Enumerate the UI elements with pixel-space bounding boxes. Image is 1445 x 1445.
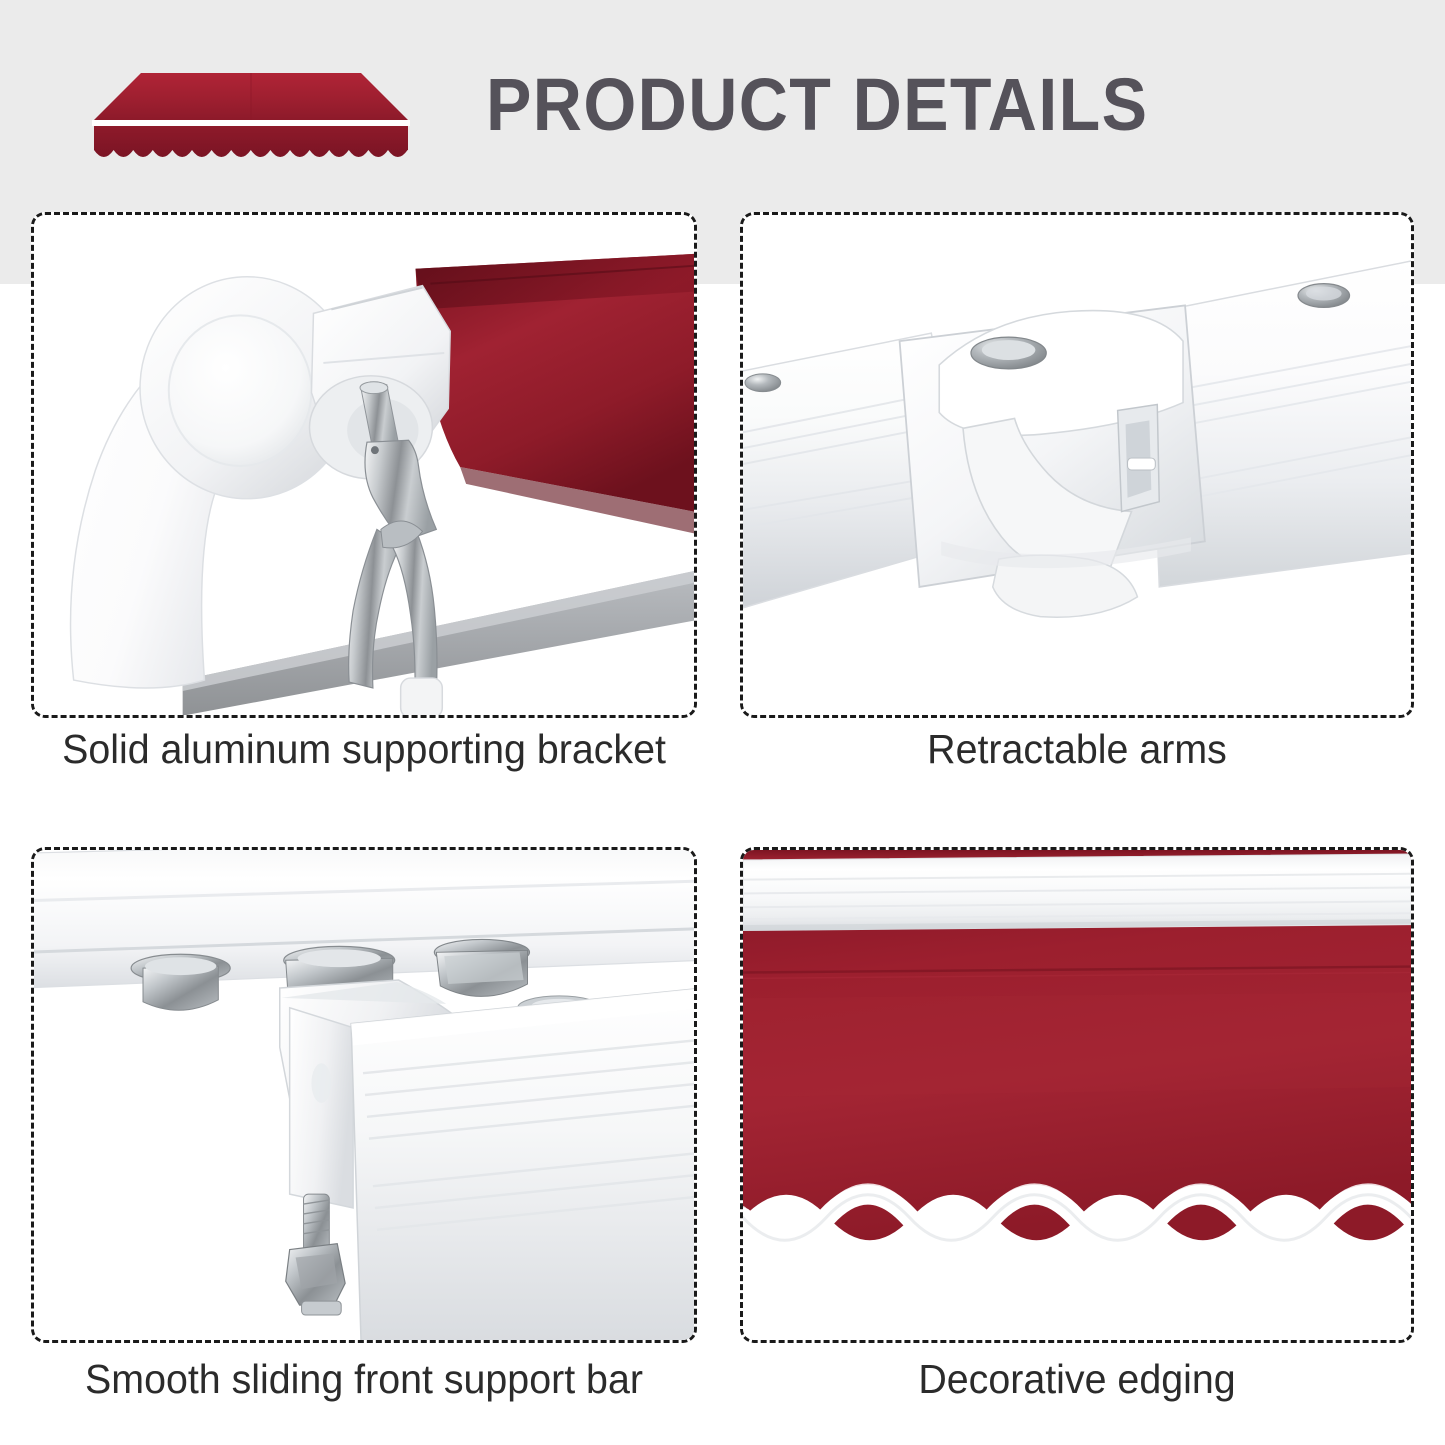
panel-decorative-edging[interactable]	[740, 847, 1414, 1343]
retractable-arms-photo	[743, 215, 1411, 715]
panel-smooth-sliding-front-support-bar[interactable]	[31, 847, 697, 1343]
product-details-page: PRODUCT DETAILS	[0, 0, 1445, 1445]
bracket-photo	[34, 215, 694, 715]
caption-decorative-edging: Decorative edging	[753, 1356, 1400, 1403]
front-support-bar-photo	[34, 850, 694, 1340]
awning-logo-icon	[86, 58, 416, 168]
decorative-edging-photo	[743, 850, 1411, 1340]
caption-solid-aluminum-supporting-bracket: Solid aluminum supporting bracket	[44, 726, 683, 773]
caption-retractable-arms: Retractable arms	[753, 726, 1400, 773]
panel-retractable-arms[interactable]	[740, 212, 1414, 718]
page-title: PRODUCT DETAILS	[486, 60, 1148, 150]
panel-solid-aluminum-supporting-bracket[interactable]	[31, 212, 697, 718]
caption-smooth-sliding-front-support-bar: Smooth sliding front support bar	[44, 1356, 683, 1403]
